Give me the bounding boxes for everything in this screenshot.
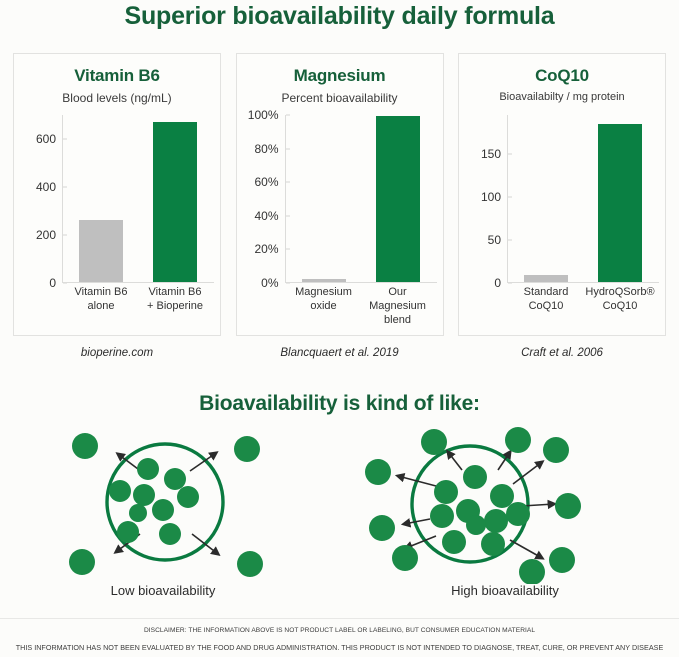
- x-axis-line: [62, 282, 214, 283]
- page-title: Superior bioavailability daily formula: [0, 2, 679, 31]
- chart-subtitle: Bioavailabilty / mg protein: [459, 91, 665, 103]
- x-axis-category-label: OurMagnesiumblend: [363, 285, 433, 327]
- x-axis-category-label: HydroQSorb®CoQ10: [585, 285, 655, 313]
- citation-magnesium: Blancquaert et al. 2019: [236, 347, 444, 367]
- plot-area: 0%20%40%60%80%100%: [237, 111, 443, 283]
- y-axis-line: [62, 115, 63, 283]
- citation-coq10: Craft et al. 2006: [458, 347, 666, 367]
- x-axis-labels: Vitamin B6aloneVitamin B6+ Bioperine: [64, 285, 212, 313]
- disclaimer-line-1: DISCLAIMER: THE INFORMATION ABOVE IS NOT…: [0, 627, 679, 634]
- low-bioavailability-diagram: [30, 424, 340, 584]
- bar-enhanced: [598, 124, 642, 282]
- bar-baseline: [79, 220, 123, 282]
- plot-area: 050100150: [459, 111, 665, 283]
- chart-card-coq10: CoQ10 Bioavailabilty / mg protein 050100…: [458, 53, 666, 336]
- y-axis-labels: 050100150: [461, 111, 505, 283]
- high-bioavailability-caption: High bioavailability: [350, 583, 660, 598]
- chart-title: Magnesium: [237, 66, 443, 86]
- y-axis-line: [285, 115, 286, 283]
- low-bioavailability-caption: Low bioavailability: [8, 583, 318, 598]
- analogy-title: Bioavailability is kind of like:: [0, 392, 679, 416]
- bar-baseline: [302, 279, 346, 282]
- x-axis-line: [507, 282, 659, 283]
- y-axis-tick-label: 60%: [254, 175, 278, 189]
- y-axis-tick-label: 0: [494, 276, 501, 290]
- charts-row: Vitamin B6 Blood levels (ng/mL) 02004006…: [0, 53, 679, 338]
- y-axis-tick-label: 40%: [254, 209, 278, 223]
- disclaimer-divider: [0, 618, 679, 619]
- y-axis-tick-label: 600: [36, 132, 56, 146]
- bar-baseline: [524, 275, 568, 282]
- x-axis-category-label: StandardCoQ10: [511, 285, 581, 313]
- citations-row: bioperine.com Blancquaert et al. 2019 Cr…: [0, 347, 679, 367]
- chart-card-vitamin-b6: Vitamin B6 Blood levels (ng/mL) 02004006…: [13, 53, 221, 336]
- y-axis-line: [507, 115, 508, 283]
- chart-card-magnesium: Magnesium Percent bioavailability 0%20%4…: [236, 53, 444, 336]
- y-axis-labels: 0%20%40%60%80%100%: [239, 111, 283, 283]
- disclaimer-line-2: THIS INFORMATION HAS NOT BEEN EVALUATED …: [0, 643, 679, 652]
- x-axis-category-label: Magnesiumoxide: [289, 285, 359, 327]
- y-axis-tick-label: 100: [481, 190, 501, 204]
- x-axis-category-label: Vitamin B6+ Bioperine: [140, 285, 210, 313]
- high-bioavailability-diagram: [350, 424, 660, 584]
- analogy-diagrams: [0, 424, 679, 604]
- y-axis-tick-label: 20%: [254, 242, 278, 256]
- y-axis-labels: 0200400600: [16, 111, 60, 283]
- plot-area: 0200400600: [14, 111, 220, 283]
- bars-group: [64, 111, 212, 282]
- x-axis-labels: StandardCoQ10HydroQSorb®CoQ10: [509, 285, 657, 313]
- bars-group: [287, 111, 435, 282]
- inside-molecules: [109, 458, 199, 545]
- y-axis-tick-label: 80%: [254, 142, 278, 156]
- y-axis-tick-label: 0: [49, 276, 56, 290]
- y-axis-tick-label: 200: [36, 228, 56, 242]
- x-axis-category-label: Vitamin B6alone: [66, 285, 136, 313]
- y-axis-tick-label: 0%: [261, 276, 278, 290]
- chart-subtitle: Percent bioavailability: [237, 91, 443, 105]
- bar-enhanced: [153, 122, 197, 282]
- x-axis-line: [285, 282, 437, 283]
- x-axis-labels: MagnesiumoxideOurMagnesiumblend: [287, 285, 435, 327]
- chart-title: Vitamin B6: [14, 66, 220, 86]
- citation-vitamin-b6: bioperine.com: [13, 347, 221, 367]
- y-axis-tick-label: 100%: [248, 108, 279, 122]
- chart-title: CoQ10: [459, 66, 665, 86]
- y-axis-tick-label: 50: [488, 233, 501, 247]
- chart-subtitle: Blood levels (ng/mL): [14, 91, 220, 105]
- infographic-page: Superior bioavailability daily formula V…: [0, 0, 679, 657]
- bar-enhanced: [376, 116, 420, 282]
- y-axis-tick-label: 150: [481, 147, 501, 161]
- bars-group: [509, 111, 657, 282]
- y-axis-tick-label: 400: [36, 180, 56, 194]
